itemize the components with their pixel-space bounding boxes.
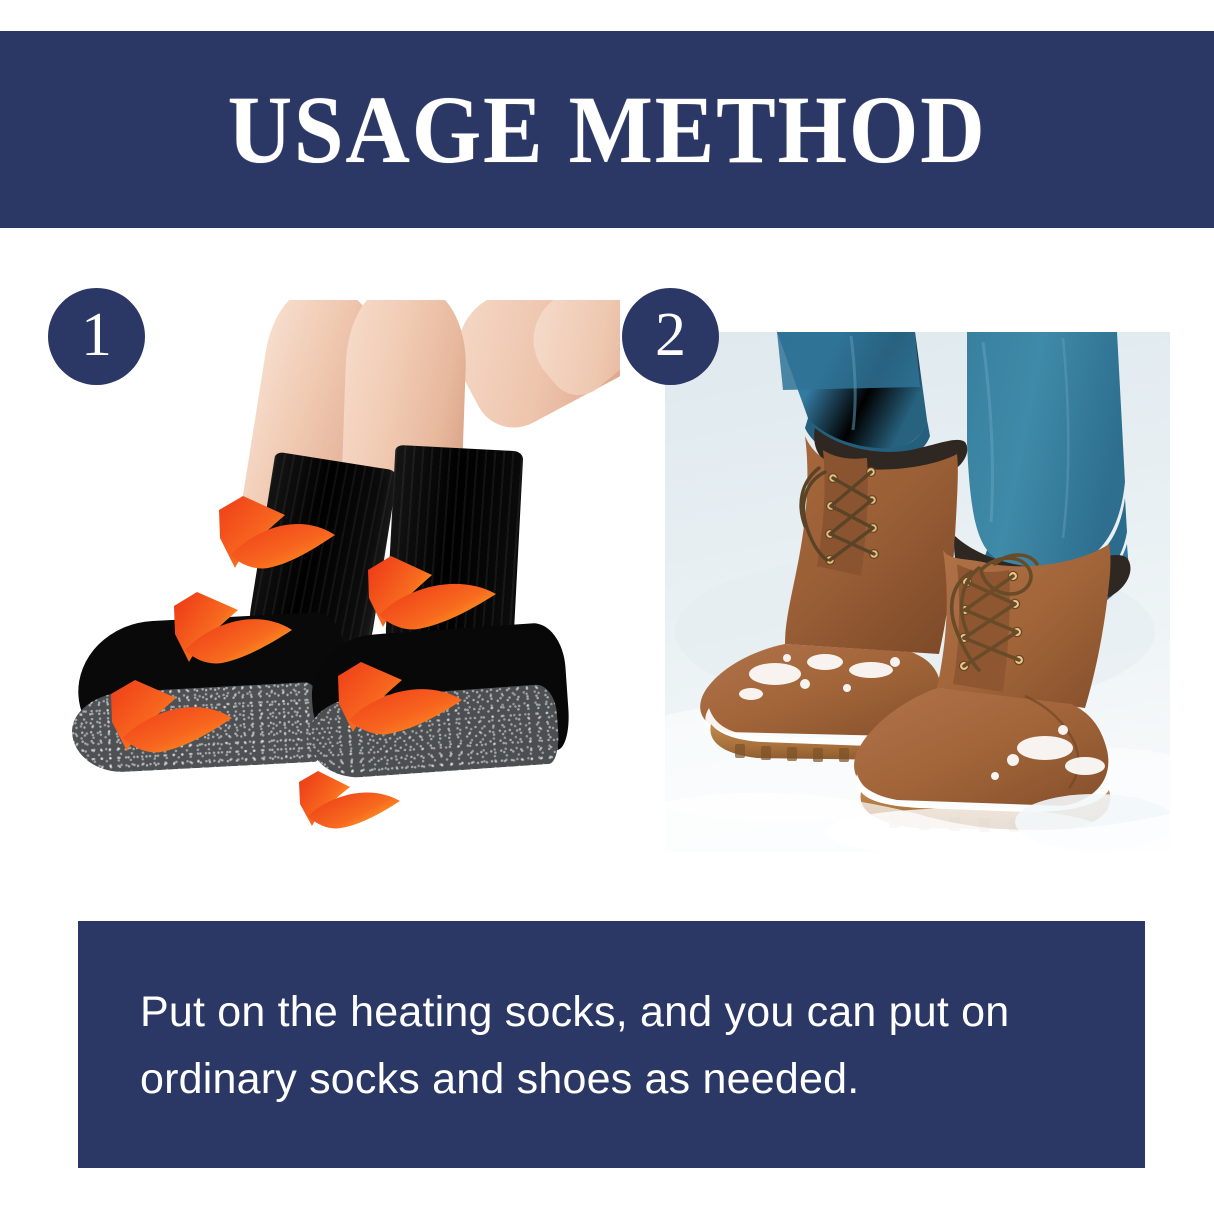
step-2-badge: 2 [622, 288, 719, 385]
page-title: USAGE METHOD [228, 82, 987, 178]
step-2-number: 2 [655, 304, 686, 366]
step-2-photo [665, 332, 1170, 852]
sock-rear-sole [70, 682, 324, 775]
caption-box: Put on the heating socks, and you can pu… [78, 921, 1145, 1168]
caption-text: Put on the heating socks, and you can pu… [140, 979, 1083, 1112]
usage-method-infographic: USAGE METHOD [0, 0, 1214, 1214]
step-1-illustration [60, 300, 620, 860]
step-1-badge: 1 [48, 288, 145, 385]
boots-in-snow-scene [665, 332, 1170, 852]
header-banner: USAGE METHOD [0, 31, 1214, 228]
step-1-number: 1 [81, 304, 112, 366]
heat-arrow-6 [299, 771, 400, 829]
